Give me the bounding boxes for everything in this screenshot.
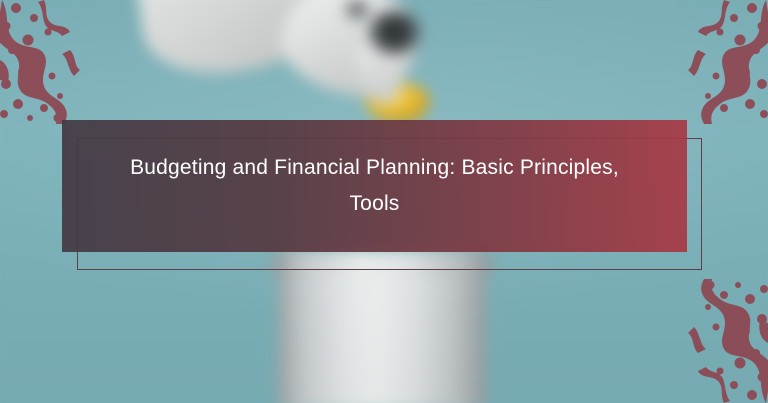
title-card: Budgeting and Financial Planning: Basic … [62,120,687,252]
floral-corner-ornament-bottom-right [640,279,768,403]
floral-corner-ornament-top-right [640,0,768,124]
page-title: Budgeting and Financial Planning: Basic … [122,150,627,222]
featured-image-canvas: Budgeting and Financial Planning: Basic … [0,0,768,403]
floral-corner-ornament-top-left [0,0,128,124]
